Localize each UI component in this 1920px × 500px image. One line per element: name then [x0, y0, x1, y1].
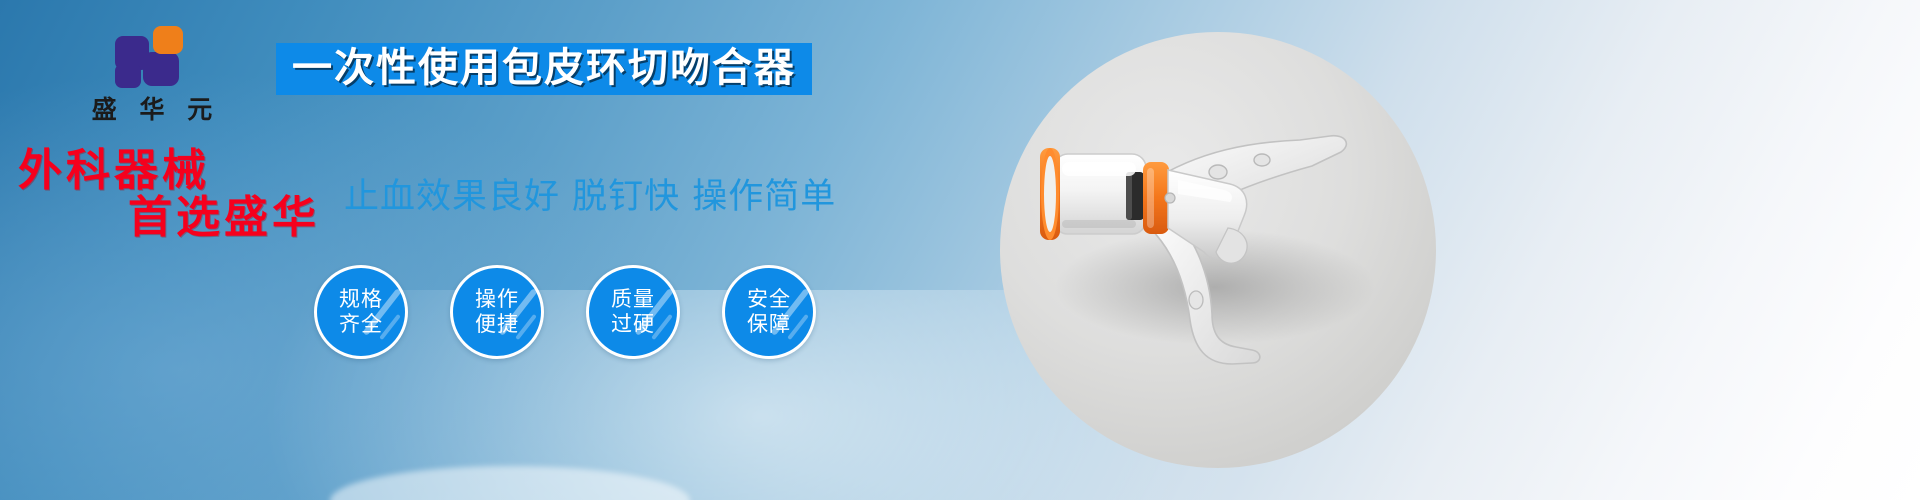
feature-badge-safety[interactable]: 安全 保障: [722, 265, 816, 359]
feature-badge-quality[interactable]: 质量 过硬: [586, 265, 680, 359]
company-logo[interactable]: 盛 华 元: [62, 26, 242, 124]
product-title-bar: 一次性使用包皮环切吻合器: [276, 43, 812, 95]
product-subtitle: 止血效果良好 脱钉快 操作简单: [344, 168, 836, 219]
feature-badge-specification[interactable]: 规格 齐全: [314, 265, 408, 359]
badge-label-line-2: 保障: [747, 312, 791, 337]
logo-mark-icon: [115, 26, 189, 88]
promo-banner: 盛 华 元 外科器械 首选盛华 一次性使用包皮环切吻合器 止血效果良好 脱钉快 …: [0, 0, 1920, 500]
background-bottom-arc: [330, 466, 690, 500]
badge-label-line-2: 齐全: [339, 312, 383, 337]
product-photo: [1000, 32, 1436, 468]
slogan-line-2: 首选盛华: [128, 195, 320, 240]
feature-badge-operation[interactable]: 操作 便捷: [450, 265, 544, 359]
feature-badge-list: 规格 齐全 操作 便捷 质量 过硬 安全 保障: [314, 265, 816, 359]
badge-label-line-1: 操作: [475, 287, 519, 312]
badge-label-line-2: 过硬: [611, 312, 655, 337]
badge-label-line-1: 安全: [747, 287, 791, 312]
calligraphy-slogan: 外科器械 首选盛华: [18, 148, 320, 241]
badge-label-line-2: 便捷: [475, 312, 519, 337]
badge-label-line-1: 规格: [339, 287, 383, 312]
page-title: 一次性使用包皮环切吻合器: [292, 48, 796, 88]
badge-label-line-1: 质量: [611, 287, 655, 312]
product-illustration: [1000, 32, 1436, 468]
slogan-line-1: 外科器械: [18, 145, 210, 196]
company-name: 盛 华 元: [62, 96, 242, 124]
